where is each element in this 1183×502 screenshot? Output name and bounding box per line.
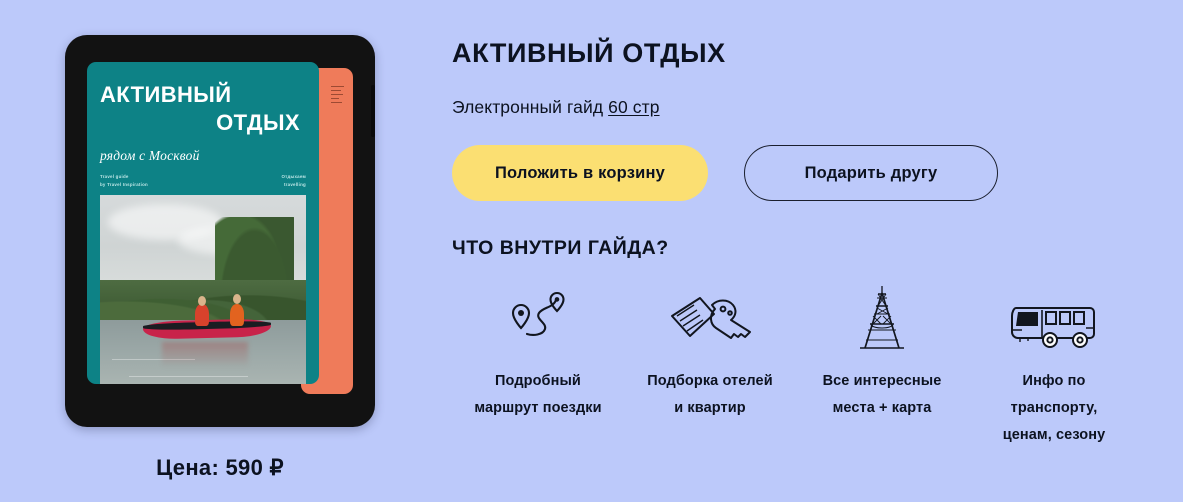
cover-photo-kayaking [100,195,306,384]
cover-title-line-2: ОТДЫХ [100,109,306,137]
product-details: АКТИВНЫЙ ОТДЫХ Электронный гайд 60 стр П… [452,0,1183,502]
page-title: АКТИВНЫЙ ОТДЫХ [452,0,1183,69]
feature-label: Все интересные места + карта [796,368,968,422]
back-cover-text-lines [331,86,345,106]
feature-label: Инфо по транспорту, ценам, сезону [968,368,1140,448]
product-visual: АКТИВНЫЙ ОТДЫХ рядом с Москвой Travel gu… [0,0,440,502]
cover-meta: Travel guide by Travel Inspiration Отдых… [100,173,306,188]
feature-label-line-2: места + карта [796,395,968,422]
feature-item: Инфо по транспорту, ценам, сезону [968,282,1140,448]
feature-label-line-1: Все интересные [796,368,968,395]
feature-label-line-1: Подборка отелей [624,368,796,395]
feature-label-line-3: ценам, сезону [968,422,1140,449]
feature-label-line-1: Подробный [452,368,624,395]
cover-title-line-1: АКТИВНЫЙ [100,82,231,107]
book-front-cover: АКТИВНЫЙ ОТДЫХ рядом с Москвой Travel gu… [87,62,319,384]
feature-label-line-2: маршрут поездки [452,395,624,422]
cover-meta-right-line-1: Отдыхаем [281,173,306,180]
cover-meta-left: Travel guide by Travel Inspiration [100,173,148,188]
cover-meta-left-line-1: Travel guide [100,173,148,180]
feature-label: Подборка отелей и квартир [624,368,796,422]
keys-tag-icon [624,282,796,352]
feature-label: Подробный маршрут поездки [452,368,624,422]
cover-meta-right-line-2: travelling [281,181,306,188]
tablet-screen: АКТИВНЫЙ ОТДЫХ рядом с Москвой Travel gu… [87,62,353,400]
inside-guide-heading: ЧТО ВНУТРИ ГАЙДА? [452,237,1183,260]
features-row: Подробный маршрут поездки Подборка отеле… [452,282,1183,448]
bus-icon [968,282,1140,352]
photo-paddler [195,304,209,326]
tablet-mockup: АКТИВНЫЙ ОТДЫХ рядом с Москвой Travel gu… [65,35,375,427]
tablet-side-button [371,85,375,137]
guide-format-line: Электронный гайд 60 стр [452,97,1183,118]
feature-label-line-2: и квартир [624,395,796,422]
feature-label-line-2: транспорту, [968,395,1140,422]
action-buttons-row: Положить в корзину Подарить другу [452,145,1183,201]
feature-item: Все интересные места + карта [796,282,968,422]
add-to-cart-button[interactable]: Положить в корзину [452,145,708,201]
feature-label-line-1: Инфо по [968,368,1140,395]
cover-title: АКТИВНЫЙ ОТДЫХ [100,81,306,137]
route-pin-icon [452,282,624,352]
guide-pages-link[interactable]: 60 стр [608,97,659,117]
guide-format-text: Электронный гайд [452,97,608,117]
price-label: Цена: 590 ₽ [0,455,440,481]
photo-paddler [230,304,244,326]
photo-kayak-reflection [162,342,249,369]
eiffel-tower-icon [796,282,968,352]
cover-subtitle: рядом с Москвой [100,148,306,164]
feature-item: Подробный маршрут поездки [452,282,624,422]
feature-item: Подборка отелей и квартир [624,282,796,422]
cover-meta-right: Отдыхаем travelling [281,173,306,188]
cover-meta-left-line-2: by Travel Inspiration [100,181,148,188]
gift-to-friend-button[interactable]: Подарить другу [744,145,998,201]
photo-ripple [129,376,248,377]
